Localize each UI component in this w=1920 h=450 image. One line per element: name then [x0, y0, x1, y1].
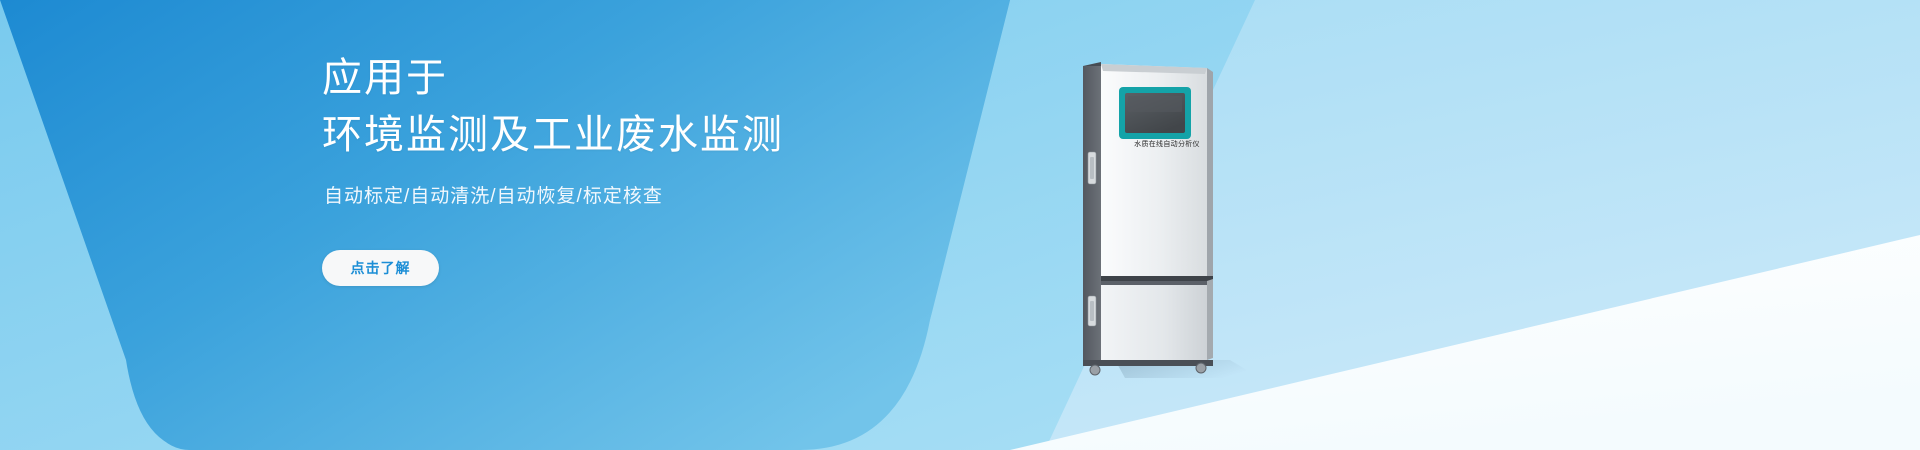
caster-left	[1090, 365, 1100, 375]
analyzer-cabinet-illustration	[1055, 60, 1255, 380]
cabinet-divider	[1101, 276, 1213, 281]
handle-upper-inset	[1090, 157, 1094, 179]
handle-lower-inset	[1090, 301, 1094, 321]
screen-glare	[1128, 96, 1182, 112]
hero-banner: 水质在线自动分析仪 应用于 环境监测及工业废水监测 自动标定/自动清洗/自动恢复…	[0, 0, 1920, 450]
product-image: 水质在线自动分析仪	[1055, 60, 1255, 380]
cabinet-base	[1083, 360, 1213, 366]
caster-right	[1196, 363, 1206, 373]
cabinet-right-edge	[1207, 68, 1213, 278]
banner-headline: 应用于 环境监测及工业废水监测	[322, 50, 784, 164]
cabinet-lower-right-edge	[1207, 279, 1213, 360]
banner-subheadline: 自动标定/自动清洗/自动恢复/标定核查	[324, 184, 663, 211]
banner-content: 应用于 环境监测及工业废水监测 自动标定/自动清洗/自动恢复/标定核查 点击了解	[322, 0, 1082, 450]
cabinet-lower-top-lip	[1101, 281, 1207, 285]
learn-more-button[interactable]: 点击了解	[322, 250, 439, 286]
cabinet-lower-face	[1101, 281, 1207, 361]
